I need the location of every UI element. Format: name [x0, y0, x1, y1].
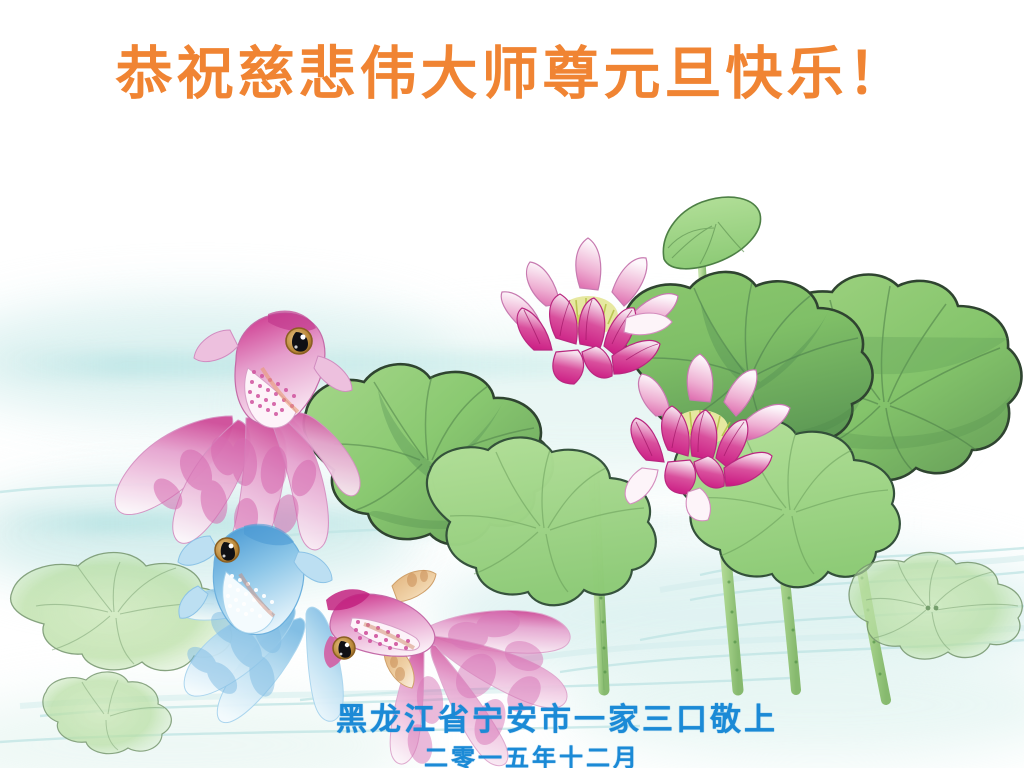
greeting-card-image: 恭祝慈悲伟大师尊元旦快乐！ 黑龙江省宁安市一家三口敬上 二零一五年十二月 [0, 0, 1024, 768]
pink-goldfish-large [115, 310, 360, 561]
lotus-pond-illustration [0, 0, 1024, 768]
signature-sender: 黑龙江省宁安市一家三口敬上 [0, 694, 1024, 739]
lotus-leaf-young-small [663, 197, 760, 269]
page-title: 恭祝慈悲伟大师尊元旦快乐！ [0, 46, 1024, 103]
signature-date: 二零一五年十二月 [0, 738, 1024, 768]
lotus-leaf-lower-left [427, 437, 656, 605]
